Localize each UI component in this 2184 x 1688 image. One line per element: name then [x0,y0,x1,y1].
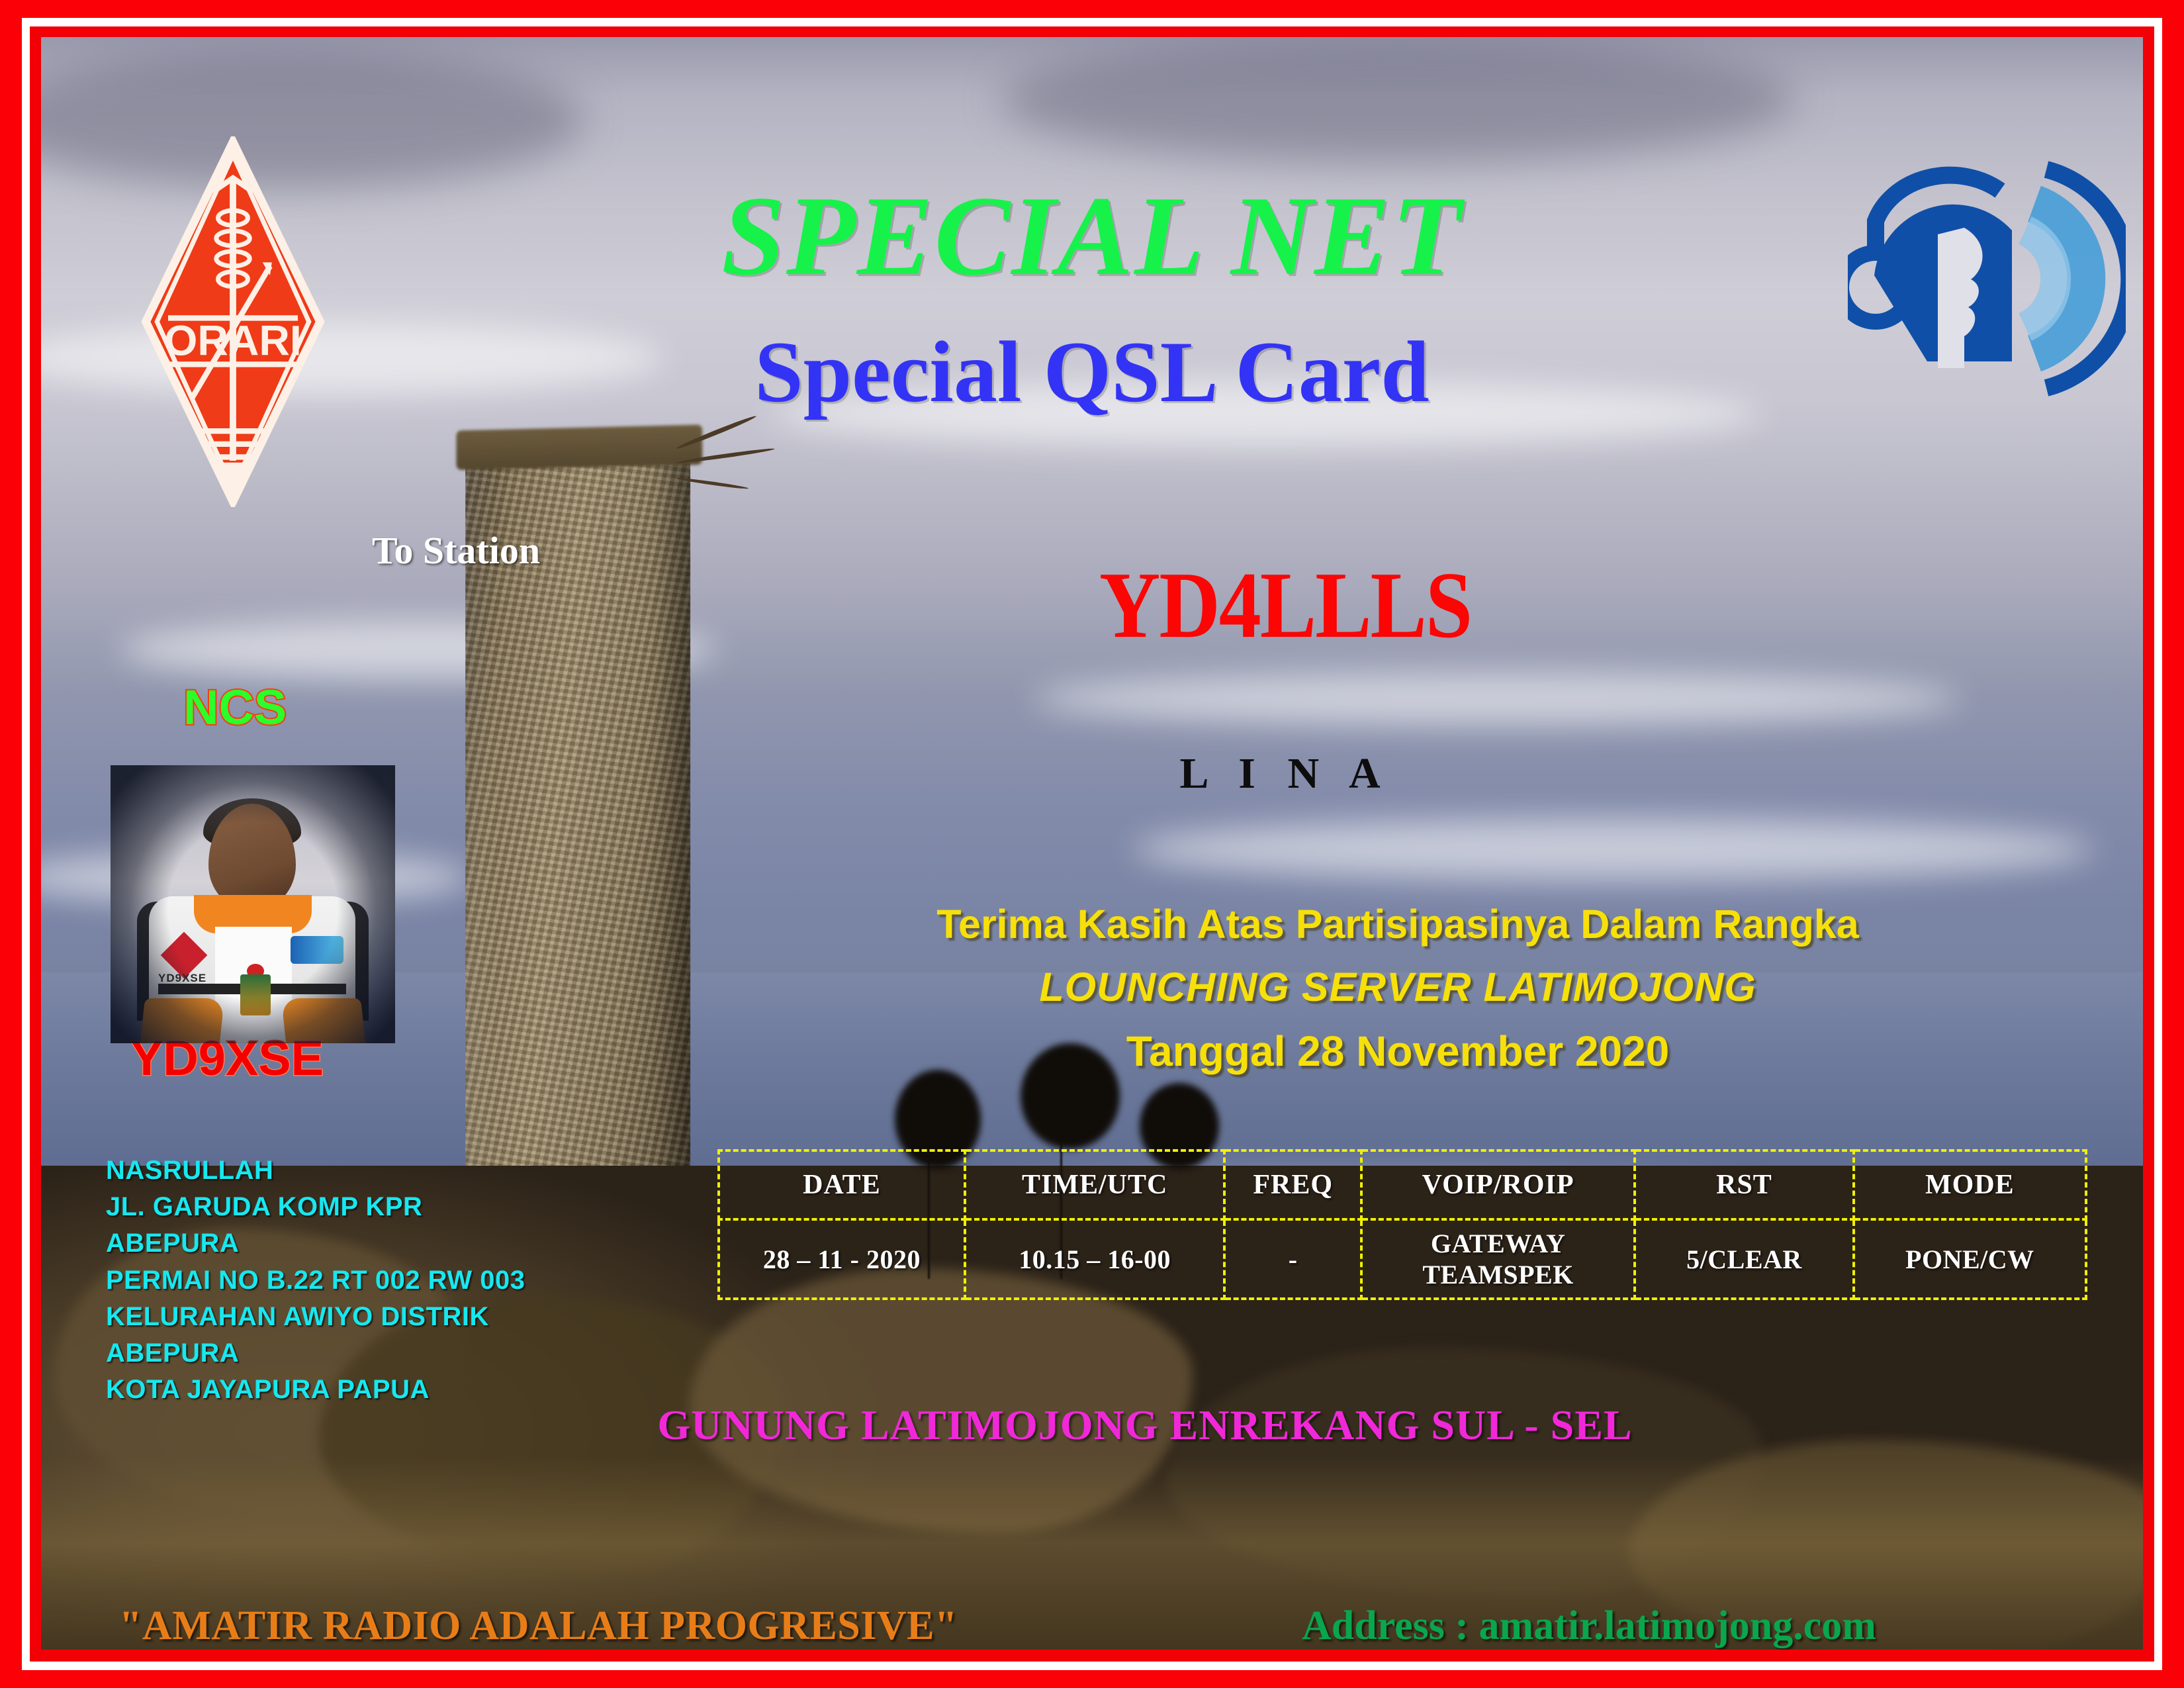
cloud-streak [1133,818,2093,881]
thanks-line-1: Terima Kasih Atas Partisipasinya Dalam R… [762,901,2033,947]
station-operator-name: L I N A [954,749,1616,799]
sender-address-block: NASRULLAH JL. GARUDA KOMP KPR ABEPURA PE… [106,1152,525,1408]
table-row: 28 – 11 - 2020 10.15 – 16-00 - GATEWAY T… [719,1219,2086,1299]
page-title-special-net: SPECIAL NET [41,179,2143,293]
footer-motto: "AMATIR RADIO ADALAH PROGRESIVE" [119,1603,958,1650]
address-line: PERMAI NO B.22 RT 002 RW 003 [106,1262,525,1299]
station-callsign: YD4LLLS [954,551,1616,660]
background-photo-scene: ORARI SPECIAL NET [41,37,2143,1650]
table-header-rst: RST [1635,1150,1854,1219]
table-header-time: TIME/UTC [965,1150,1225,1219]
ncs-label: NCS [183,679,287,735]
footer-web-address: Address : amatir.latimojong.com [1302,1603,1876,1650]
address-line: JL. GARUDA KOMP KPR [106,1189,525,1225]
address-line: KELURAHAN AWIYO DISTRIK [106,1299,525,1335]
table-cell-rst: 5/CLEAR [1635,1219,1854,1299]
page-subtitle-qsl-card: Special QSL Card [41,328,2143,416]
to-station-label: To Station [372,528,540,573]
table-cell-voip: GATEWAY TEAMSPEK [1361,1219,1635,1299]
table-header-mode: MODE [1854,1150,2086,1219]
table-header-row: DATE TIME/UTC FREQ VOIP/ROIP RST MODE [719,1150,2086,1219]
table-cell-freq: - [1224,1219,1361,1299]
cloud-streak [1034,673,1960,726]
table-header-date: DATE [719,1150,965,1219]
thanks-line-3: Tanggal 28 November 2020 [762,1027,2033,1076]
address-line: NASRULLAH [106,1152,525,1189]
qsl-card-frame: ORARI SPECIAL NET [0,0,2184,1688]
table-cell-date: 28 – 11 - 2020 [719,1219,965,1299]
photo-vignette [111,765,395,1043]
qso-details-table: DATE TIME/UTC FREQ VOIP/ROIP RST MODE 28… [717,1149,2087,1300]
cloud-dark [1001,37,1795,163]
table-header-voip: VOIP/ROIP [1361,1150,1635,1219]
address-line: ABEPURA [106,1225,525,1262]
address-line: ABEPURA [106,1335,525,1372]
event-location-line: GUNUNG LATIMOJONG ENREKANG SUL - SEL [41,1401,2143,1450]
table-cell-mode: PONE/CW [1854,1219,2086,1299]
table-cell-time: 10.15 – 16-00 [965,1219,1225,1299]
thanks-line-2: LOUNCHING SERVER LATIMOJONG [762,964,2033,1010]
table-header-freq: FREQ [1224,1150,1361,1219]
ncs-operator-photo: YD9XSE [111,765,395,1043]
